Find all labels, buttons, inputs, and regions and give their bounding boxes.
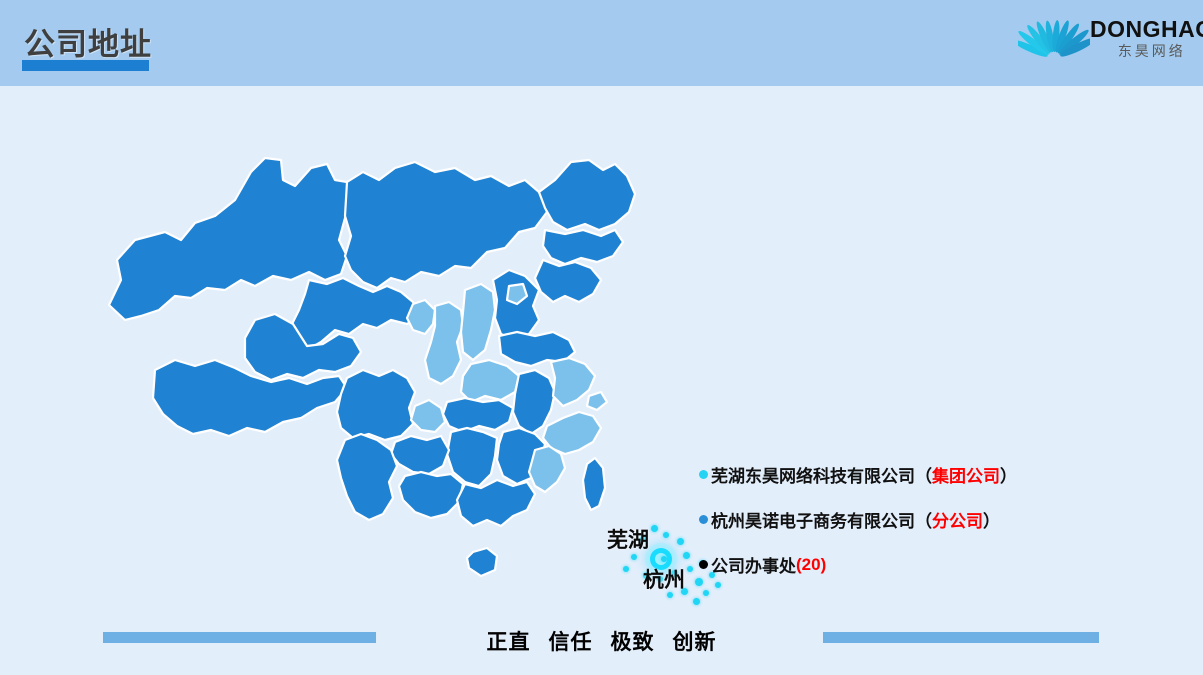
title-underline	[22, 60, 149, 71]
marker-office[interactable]	[631, 554, 637, 560]
legend-bullet-icon	[699, 515, 708, 524]
legend-item-group-company: 芜湖东昊网络科技有限公司 （ 集团公司 ）	[699, 462, 1169, 487]
donghao-feather-mark-icon	[1018, 7, 1090, 69]
logo-name-cn: 东昊网络	[1090, 42, 1203, 60]
legend-tag: 分公司	[932, 507, 983, 532]
legend-tag-open: （	[915, 462, 932, 487]
marker-office[interactable]	[623, 566, 629, 572]
legend-tag-close: ）	[1000, 462, 1017, 487]
legend-label: 杭州昊诺电子商务有限公司	[711, 507, 915, 532]
legend-label: 公司办事处	[711, 552, 796, 577]
legend-tag: (20)	[796, 555, 826, 575]
legend-bullet-icon	[699, 470, 708, 479]
legend-label: 芜湖东昊网络科技有限公司	[711, 462, 915, 487]
logo-name-en: DONGHAO	[1090, 17, 1203, 41]
marker-office[interactable]	[661, 556, 667, 562]
marker-office[interactable]	[663, 532, 669, 538]
legend-item-offices: 公司办事处 (20)	[699, 552, 1169, 577]
map-label-hangzhou: 杭州	[643, 564, 685, 594]
slogan-word-2: 信任	[549, 631, 593, 654]
legend-bullet-icon	[699, 560, 708, 569]
legend-item-branch-company: 杭州昊诺电子商务有限公司 （ 分公司 ）	[699, 507, 1169, 532]
slogan-word-3: 极致	[611, 631, 655, 654]
legend-tag: 集团公司	[932, 462, 1000, 487]
legend: 芜湖东昊网络科技有限公司 （ 集团公司 ） 杭州昊诺电子商务有限公司 （ 分公司…	[699, 462, 1169, 597]
marker-office[interactable]	[677, 538, 684, 545]
company-logo: DONGHAO 东昊网络	[1018, 7, 1193, 69]
legend-tag-close: ）	[983, 507, 1000, 532]
slogan-word-4: 创新	[673, 631, 717, 654]
marker-office[interactable]	[651, 525, 658, 532]
marker-office[interactable]	[693, 598, 700, 605]
page-title: 公司地址	[24, 19, 152, 64]
marker-office[interactable]	[683, 552, 690, 559]
page-header: 公司地址	[0, 0, 1203, 86]
footer-slogan: 正直信任极致创新	[0, 626, 1203, 656]
marker-office[interactable]	[687, 566, 693, 572]
logo-wordmark: DONGHAO 东昊网络	[1090, 17, 1203, 60]
china-map: 芜湖 杭州	[95, 120, 695, 620]
slogan-word-1: 正直	[487, 631, 531, 654]
legend-tag-open: （	[915, 507, 932, 532]
map-label-wuhu: 芜湖	[607, 524, 649, 554]
